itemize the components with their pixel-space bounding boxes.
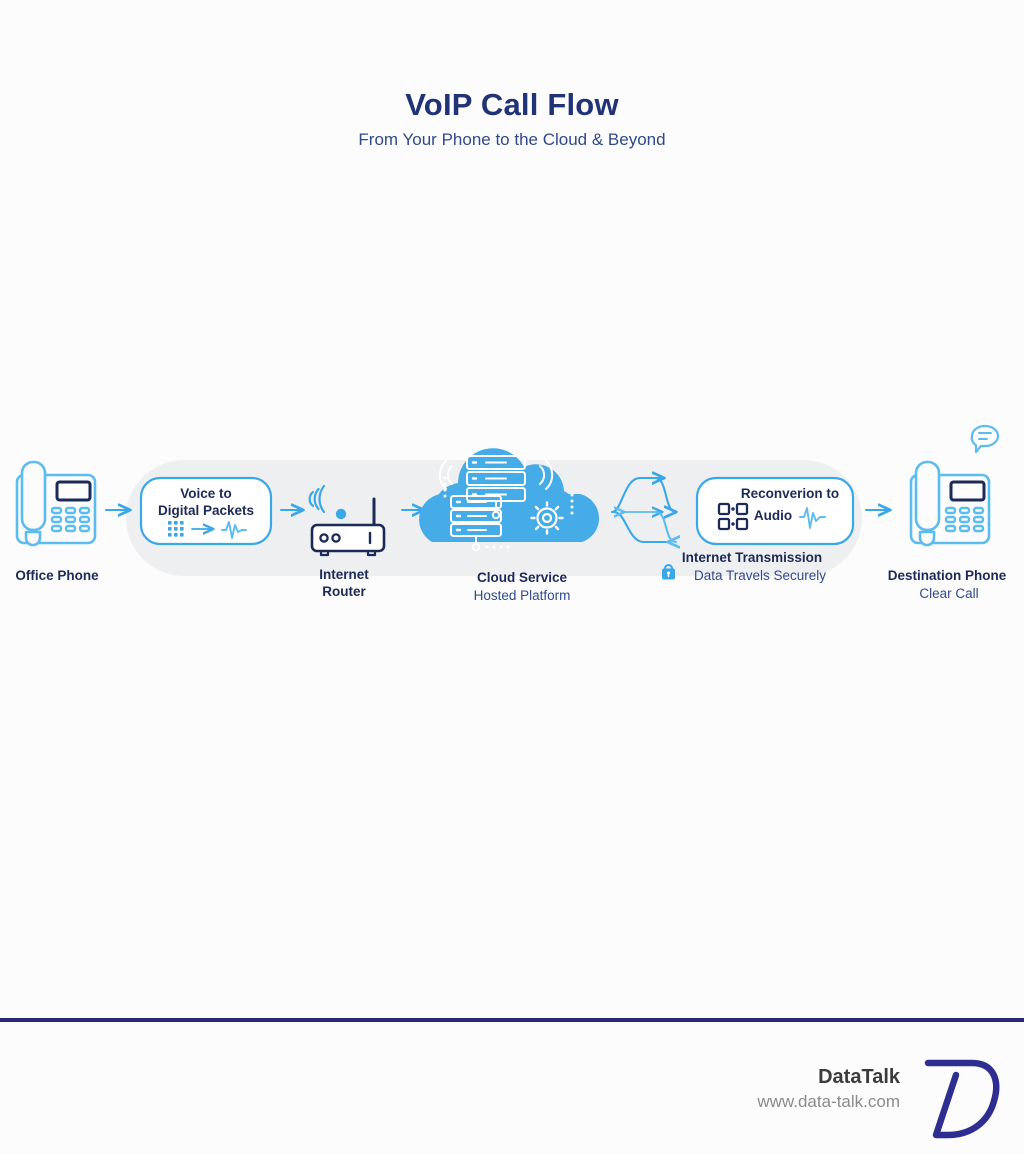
node-label-office-phone: Office Phone xyxy=(15,568,99,583)
node-label-voice-to: Voice to xyxy=(180,486,232,501)
node-label-digital-packets: Digital Packets xyxy=(158,503,254,518)
page-header: VoIP Call Flow From Your Phone to the Cl… xyxy=(0,0,1024,150)
brand-url[interactable]: www.data-talk.com xyxy=(757,1091,900,1113)
voip-call-flow-diagram: Office Phone Voice to Digital Packets xyxy=(0,420,1024,640)
brand-text-block: DataTalk www.data-talk.com xyxy=(757,1065,900,1113)
node-office-phone[interactable]: Office Phone xyxy=(15,462,99,583)
page-subtitle: From Your Phone to the Cloud & Beyond xyxy=(0,131,1024,150)
node-sublabel-hosted-platform: Hosted Platform xyxy=(474,588,571,603)
node-label-cloud-service: Cloud Service xyxy=(477,570,568,585)
node-label-internet: Internet xyxy=(319,567,369,582)
node-label-destination-phone: Destination Phone xyxy=(888,568,1007,583)
brand-name: DataTalk xyxy=(757,1065,900,1089)
speech-bubble-icon xyxy=(972,426,998,452)
datatalk-d-logo xyxy=(910,1053,1010,1145)
desk-phone-icon xyxy=(17,462,95,545)
node-label-reconverion-to: Reconverion to xyxy=(741,486,839,501)
node-sublabel-data-travels-securely: Data Travels Securely xyxy=(694,568,826,583)
node-label-router: Router xyxy=(322,584,366,599)
page-footer: DataTalk www.data-talk.com xyxy=(0,1045,1024,1154)
node-destination-phone[interactable]: Destination Phone Clear Call xyxy=(888,426,1007,601)
node-label-internet-transmission: Internet Transmission xyxy=(682,550,822,565)
node-voice-to-packets[interactable]: Voice to Digital Packets xyxy=(141,478,271,544)
node-reconversion-to-audio[interactable]: Reconverion to Audio xyxy=(697,478,853,544)
footer-divider xyxy=(0,1018,1024,1022)
node-sublabel-clear-call: Clear Call xyxy=(919,586,978,601)
node-label-audio: Audio xyxy=(754,508,792,523)
desk-phone-bubble-icon xyxy=(911,426,998,545)
page-title: VoIP Call Flow xyxy=(0,88,1024,122)
